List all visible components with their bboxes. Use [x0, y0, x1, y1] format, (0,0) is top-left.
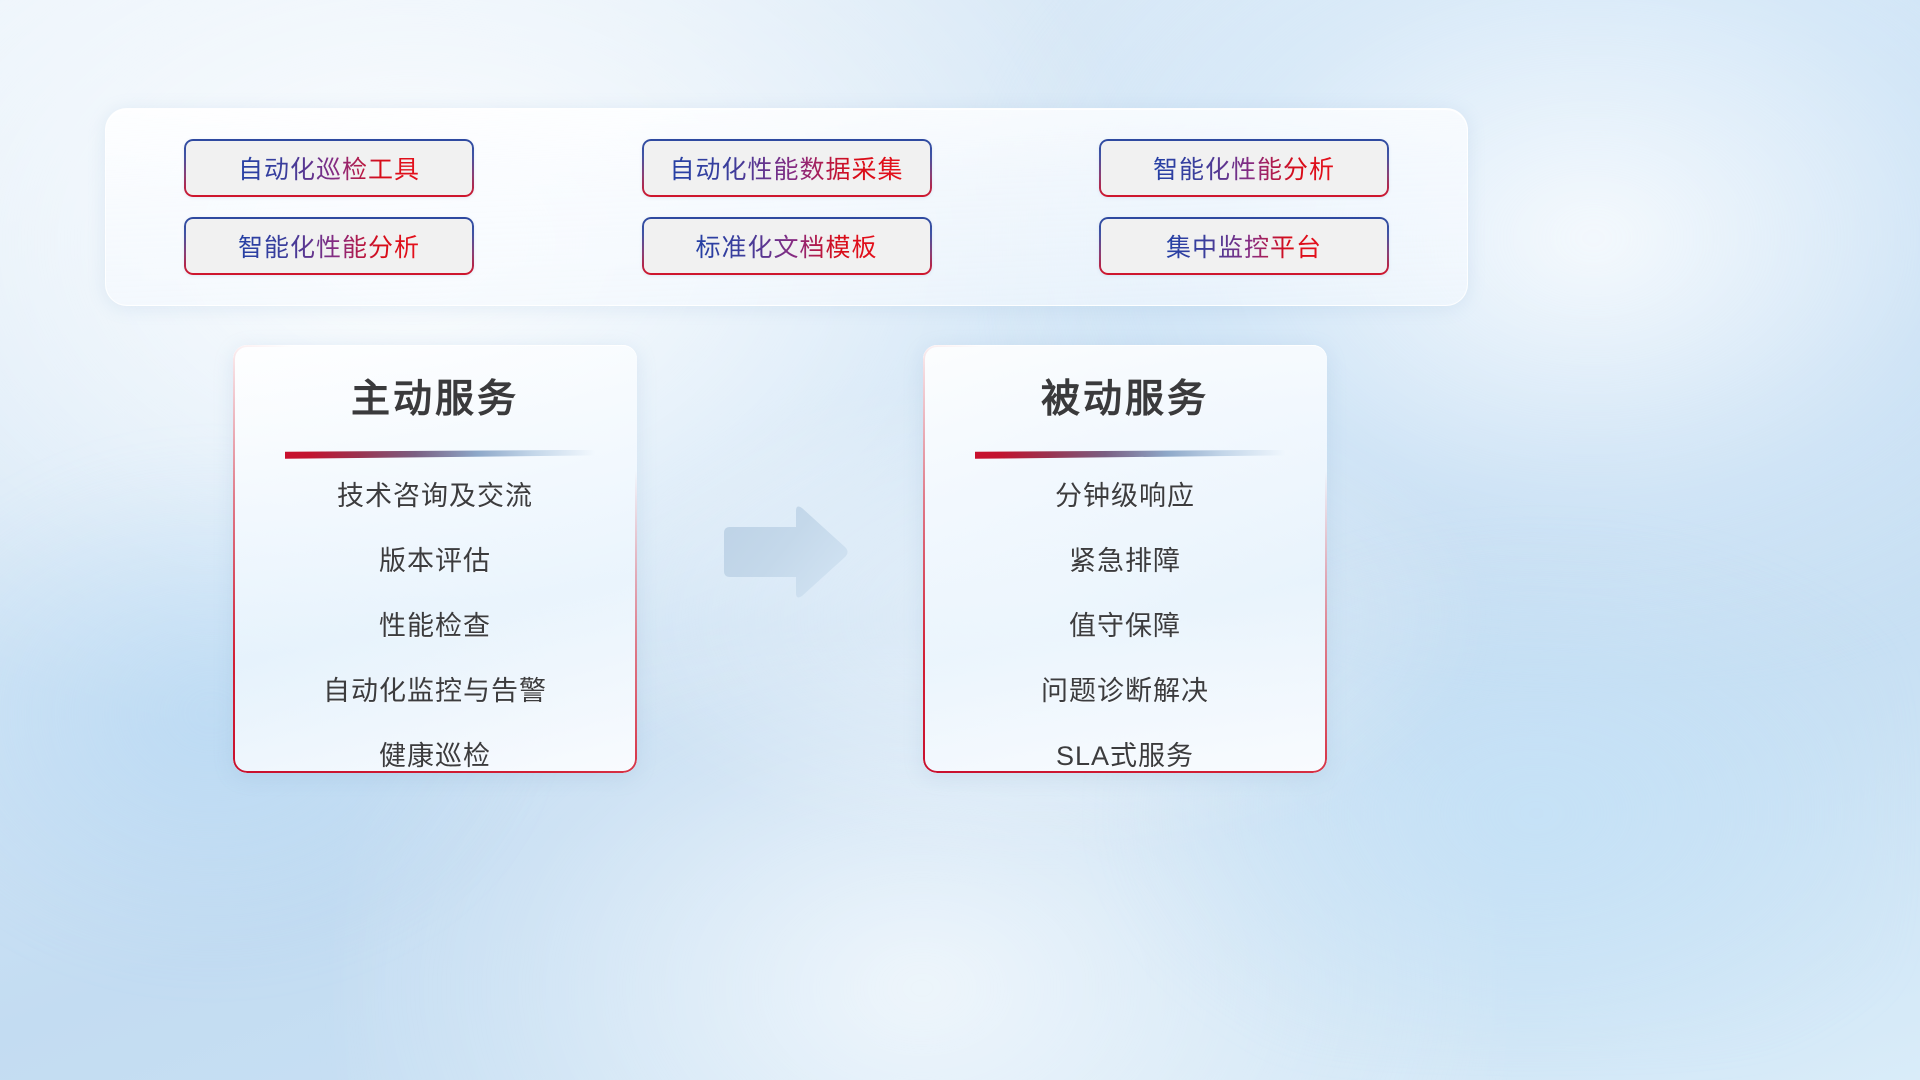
capability-panel: 自动化巡检工具 自动化性能数据采集 智能化性能分析 智能化性能分析 标准化文档模…: [105, 108, 1468, 306]
capability-chip-label: 集中监控平台: [1166, 228, 1322, 264]
list-item: 性能检查: [259, 604, 611, 643]
capability-chip-label: 自动化巡检工具: [238, 150, 420, 186]
title-divider: [285, 450, 595, 459]
diagram-stage: 自动化巡检工具 自动化性能数据采集 智能化性能分析 智能化性能分析 标准化文档模…: [0, 0, 1920, 1080]
capability-chip-label: 智能化性能分析: [1153, 150, 1335, 186]
list-item: 技术咨询及交流: [259, 474, 611, 513]
list-item: 自动化监控与告警: [259, 669, 611, 708]
list-item: 紧急排障: [949, 539, 1301, 578]
capability-chip-label: 标准化文档模板: [695, 228, 877, 264]
capability-chip-standardized-document-template[interactable]: 标准化文档模板: [642, 217, 932, 275]
title-divider: [975, 450, 1285, 459]
service-item-list: 技术咨询及交流 版本评估 性能检查 自动化监控与告警 健康巡检: [259, 474, 611, 773]
capability-row-1: 自动化巡检工具 自动化性能数据采集 智能化性能分析: [184, 139, 1389, 197]
capability-chip-label: 智能化性能分析: [238, 228, 420, 264]
list-item: 值守保障: [949, 604, 1301, 643]
service-card-reactive[interactable]: 被动服务 分钟级响应 紧急排障 值守保障 问题诊断解决 SLA式服务: [923, 345, 1327, 773]
service-card-body: 主动服务 技术咨询及交流 版本评估 性能检查 自动化监控与告警 健康巡检: [233, 345, 637, 773]
capability-chip-automated-performance-data-collection[interactable]: 自动化性能数据采集: [642, 139, 932, 197]
arrow-right-icon: [714, 503, 850, 601]
list-item: 版本评估: [259, 539, 611, 578]
title-divider-wrap: [949, 444, 1301, 450]
capability-chip-label: 自动化性能数据采集: [669, 150, 903, 186]
service-card-title: 主动服务: [259, 377, 611, 424]
list-item: SLA式服务: [949, 734, 1301, 773]
capability-chip-centralized-monitoring-platform[interactable]: 集中监控平台: [1099, 217, 1389, 275]
capability-chip-intelligent-performance-analysis-top[interactable]: 智能化性能分析: [1099, 139, 1389, 197]
service-card-body: 被动服务 分钟级响应 紧急排障 值守保障 问题诊断解决 SLA式服务: [923, 345, 1327, 773]
service-card-title: 被动服务: [949, 377, 1301, 424]
capability-chip-intelligent-performance-analysis[interactable]: 智能化性能分析: [184, 217, 474, 275]
capability-chip-automated-inspection-tool[interactable]: 自动化巡检工具: [184, 139, 474, 197]
service-card-proactive[interactable]: 主动服务 技术咨询及交流 版本评估 性能检查 自动化监控与告警 健康巡检: [233, 345, 637, 773]
list-item: 问题诊断解决: [949, 669, 1301, 708]
service-item-list: 分钟级响应 紧急排障 值守保障 问题诊断解决 SLA式服务: [949, 474, 1301, 773]
capability-row-2: 智能化性能分析 标准化文档模板 集中监控平台: [184, 217, 1389, 275]
list-item: 分钟级响应: [949, 474, 1301, 513]
list-item: 健康巡检: [259, 734, 611, 773]
title-divider-wrap: [259, 444, 611, 450]
